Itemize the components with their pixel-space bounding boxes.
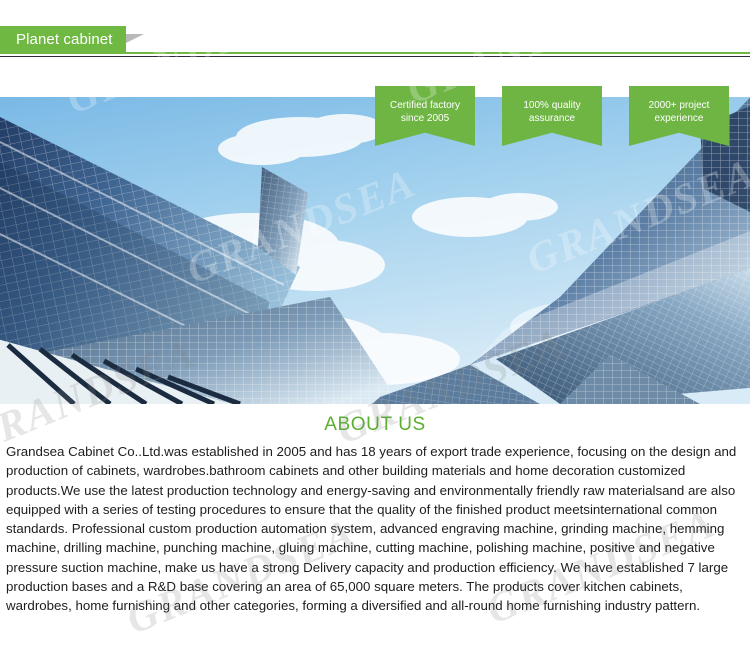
badge-project-experience: 2000+ project experience	[629, 86, 729, 146]
badge-quality-assurance: 100% quality assurance	[502, 86, 602, 146]
header-tab-label: Planet cabinet	[16, 32, 112, 47]
badge-line-1: Certified factory	[390, 99, 460, 112]
trust-badges: Certified factory since 2005 100% qualit…	[0, 86, 750, 166]
about-title: ABOUT US	[0, 414, 750, 436]
about-section: ABOUT US Grandsea Cabinet Co..Ltd.was es…	[0, 404, 750, 665]
header-green-rule	[0, 52, 750, 54]
header-dark-rule	[0, 56, 750, 57]
badge-certified-factory: Certified factory since 2005	[375, 86, 475, 146]
page-header: Planet cabinet	[0, 0, 750, 58]
product-description-page: Planet cabinet	[0, 0, 750, 665]
badge-line-1: 100% quality	[523, 99, 580, 112]
about-body-text: Grandsea Cabinet Co..Ltd.was established…	[0, 442, 750, 616]
header-tab-arrow-icon	[126, 26, 146, 52]
header-tab-green-block: Planet cabinet	[0, 26, 126, 52]
badge-line-1: 2000+ project	[649, 99, 710, 112]
badge-line-2: assurance	[529, 112, 575, 125]
badge-line-2: since 2005	[401, 112, 449, 125]
badge-line-2: experience	[655, 112, 704, 125]
header-tab: Planet cabinet	[0, 26, 146, 52]
